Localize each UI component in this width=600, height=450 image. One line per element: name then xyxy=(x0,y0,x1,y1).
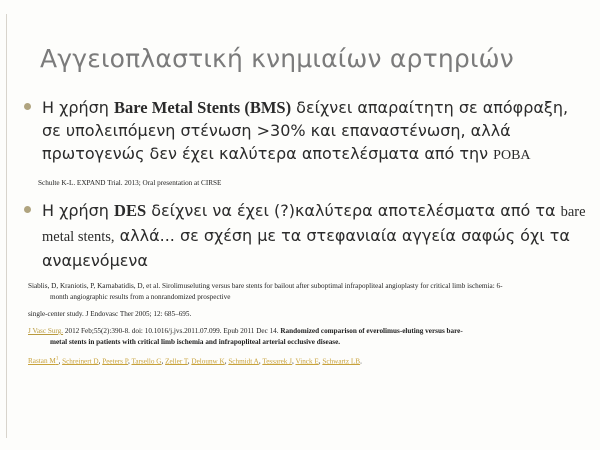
citation-line: metal stents in patients with critical l… xyxy=(28,337,590,348)
author-link[interactable]: Schwartz LB xyxy=(322,357,360,365)
author-link[interactable]: Peeters P xyxy=(102,357,128,365)
author-link[interactable]: Schreinert D xyxy=(62,357,99,365)
slide: Αγγειοπλαστική κνημιαίων αρτηριών Η χρήσ… xyxy=(0,0,600,450)
bullet-text: Η χρήση DES δείχνει να έχει (?)καλύτερα … xyxy=(42,199,590,272)
bullet-dot-icon xyxy=(24,206,31,213)
author-link-list: Rastan M1, Schreinert D, Peeters P, Tars… xyxy=(14,354,590,367)
citation-line: month angiographic results from a nonran… xyxy=(28,292,590,303)
journal-link[interactable]: J Vasc Surg. xyxy=(28,327,63,335)
bullet-segment-text: Η χρήση xyxy=(42,98,114,117)
citation-rastan: J Vasc Surg. 2012 Feb;55(2):390-8. doi: … xyxy=(14,326,590,348)
bullet-segment-small: POBA xyxy=(493,148,530,163)
author-link[interactable]: Tessarek J xyxy=(262,357,292,365)
author-link[interactable]: Schmidt A xyxy=(228,357,259,365)
citation-line: J Vasc Surg. 2012 Feb;55(2):390-8. doi: … xyxy=(28,326,590,337)
citation-line: single-center study. J Endovasc Ther 200… xyxy=(28,309,590,320)
author-link[interactable]: Delounw K xyxy=(191,357,224,365)
citation-details: 2012 Feb;55(2):390-8. doi: 10.1016/j.jvs… xyxy=(63,327,280,335)
page-title: Αγγειοπλαστική κνημιαίων αρτηριών xyxy=(40,44,580,73)
citation-line: Siablis, D, Kraniotis, P, Karnabatidis, … xyxy=(28,281,590,292)
citation-siablis: Siablis, D, Kraniotis, P, Karnabatidis, … xyxy=(14,281,590,320)
bullet-segment-text: Η χρήση xyxy=(42,201,114,220)
author-link[interactable]: Tarsello G xyxy=(131,357,161,365)
list-item: Η χρήση Bare Metal Stents (BMS) δείχνει … xyxy=(14,96,590,167)
author-link[interactable]: Rastan M1 xyxy=(28,357,59,365)
bullet-segment-bold: Bare Metal Stents (BMS) xyxy=(114,98,291,117)
slide-left-rule xyxy=(6,14,7,438)
bullet-segment-text: αλλά... σε σχέση με τα στεφανιαία αγγεία… xyxy=(42,226,570,270)
author-link[interactable]: Zeller T xyxy=(165,357,188,365)
author-link[interactable]: Vinck E xyxy=(295,357,318,365)
list-item: Η χρήση DES δείχνει να έχει (?)καλύτερα … xyxy=(14,199,590,272)
bullet-segment-bold: DES xyxy=(114,201,146,220)
author-links: Rastan M1, Schreinert D, Peeters P, Tars… xyxy=(28,357,362,365)
citation-title-part-2: metal stents in patients with critical l… xyxy=(50,338,340,346)
bullet-segment-text: δείχνει να έχει (?)καλύτερα αποτελέσματα… xyxy=(146,201,560,220)
citation-schulte: Schulte K-L. EXPAND Trial. 2013; Oral pr… xyxy=(14,178,590,188)
author-separator: . xyxy=(360,357,362,365)
bullet-text: Η χρήση Bare Metal Stents (BMS) δείχνει … xyxy=(42,96,590,167)
citation-title-part-1: Randomized comparison of everolimus-elut… xyxy=(280,327,462,335)
bullet-dot-icon xyxy=(24,103,31,110)
slide-body: Η χρήση Bare Metal Stents (BMS) δείχνει … xyxy=(14,96,590,367)
